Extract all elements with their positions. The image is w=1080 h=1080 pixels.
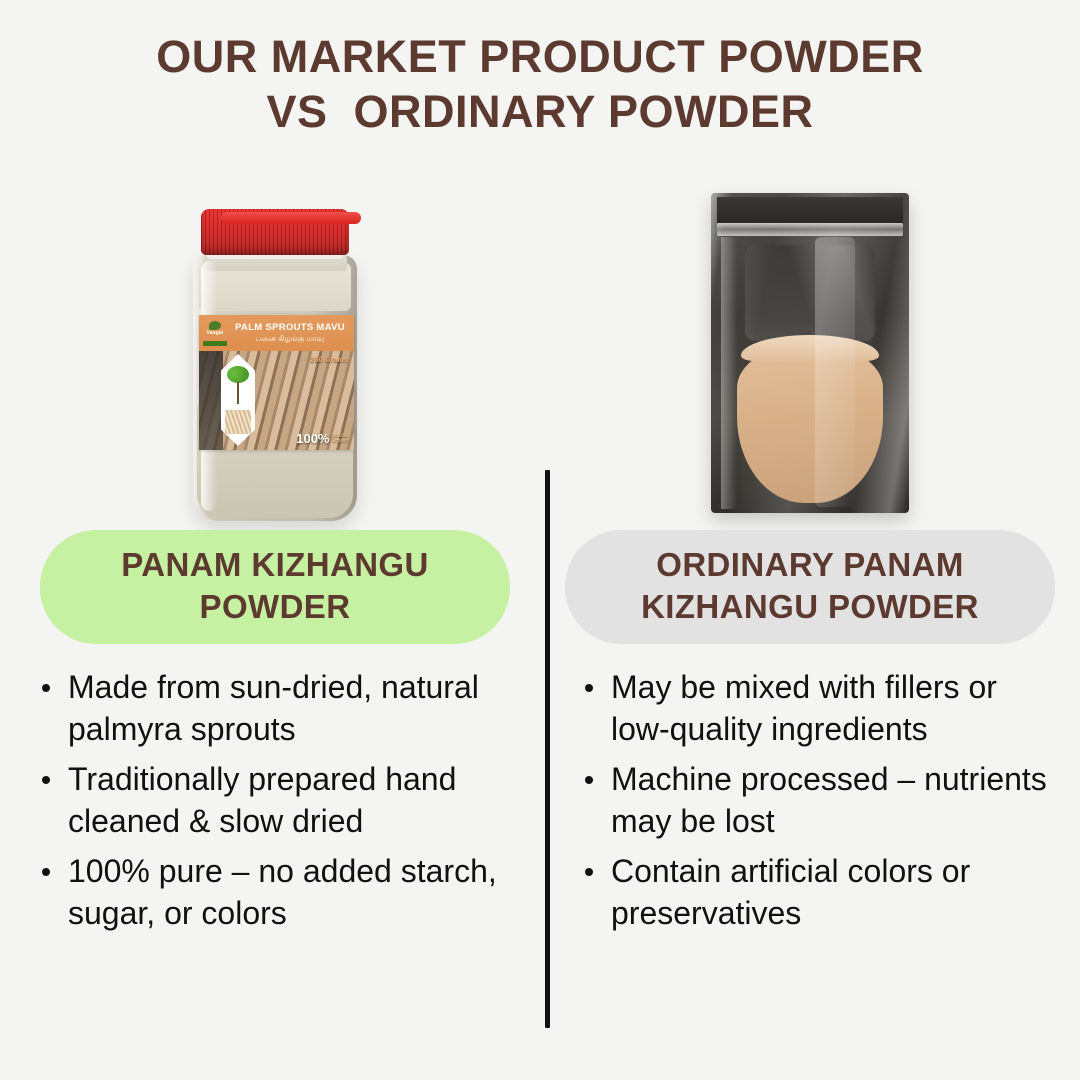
list-item: Contain artificial colors or preservativ…: [581, 851, 1063, 934]
jar-product-label: Vaagai PALM SPROUTS MAVU பனை கிழங்கு மாவ…: [199, 315, 354, 450]
product-image-pouch: ORDINARY PANAM KIZHANGU POWDER: [545, 175, 1075, 525]
jar-illustration: Vaagai PALM SPROUTS MAVU பனை கிழங்கு மாவ…: [185, 203, 365, 521]
list-item: Machine processed – nutrients may be los…: [581, 759, 1063, 842]
sprout-sticks-icon: [225, 410, 251, 434]
label-purity-value: 100%: [296, 432, 329, 445]
pouch-sheen-left: [721, 237, 737, 509]
pouch-powder-fill: [737, 343, 883, 503]
comparison-column-left: Vaagai PALM SPROUTS MAVU பனை கிழங்கு மாவ…: [10, 175, 540, 1055]
label-purity-sub-line-2: Organic: [331, 439, 349, 445]
badge-ordinary-panam-kizhangu-powder: ORDINARY PANAM KIZHANGU POWDER: [565, 530, 1055, 644]
list-item: Made from sun-dried, natural palmyra spr…: [38, 667, 528, 750]
list-item: 100% pure – no added starch, sugar, or c…: [38, 851, 528, 934]
jar-cap: [201, 209, 349, 255]
pouch-sheen-center: [815, 237, 855, 507]
comparison-column-right: ORDINARY PANAM KIZHANGU POWDER May be mi…: [545, 175, 1075, 1055]
label-purity-sub: Natural Organic: [331, 434, 349, 446]
pouch-illustration: [711, 193, 909, 513]
tree-trunk-icon: [237, 382, 239, 404]
label-header-band: Vaagai PALM SPROUTS MAVU பனை கிழங்கு மாவ…: [199, 315, 354, 351]
pouch-wrinkles: [745, 245, 875, 341]
logo-tag-bar: [203, 341, 227, 346]
label-photo-shadow: [199, 351, 223, 450]
label-product-name-en: PALM SPROUTS MAVU: [228, 323, 352, 333]
brand-name: Vaagai: [202, 330, 228, 336]
pouch-top-seal: [717, 197, 903, 223]
right-drawbacks-list: May be mixed with fillers or low-quality…: [545, 667, 1075, 944]
leaf-icon: [209, 321, 221, 330]
page-header: OUR MARKET PRODUCT POWDER VS ORDINARY PO…: [0, 0, 1080, 140]
tree-canopy-icon: [227, 366, 249, 383]
product-image-jar: Vaagai PALM SPROUTS MAVU பனை கிழங்கு மாவ…: [10, 175, 540, 525]
badge-panam-kizhangu-powder: PANAM KIZHANGU POWDER: [40, 530, 510, 644]
label-net-weight: 250 Grams: [310, 357, 348, 364]
pouch-ziplock-strip: [717, 223, 903, 236]
page-title-line-1: OUR MARKET PRODUCT POWDER: [0, 30, 1080, 85]
label-photo-area: 250 Grams 100% Natural Organic: [199, 351, 354, 450]
list-item: Traditionally prepared hand cleaned & sl…: [38, 759, 528, 842]
brand-logo-icon: Vaagai: [202, 319, 228, 347]
left-benefits-list: Made from sun-dried, natural palmyra spr…: [10, 667, 540, 944]
label-product-name-ta: பனை கிழங்கு மாவு: [228, 334, 352, 343]
page-title-line-2: VS ORDINARY POWDER: [0, 85, 1080, 140]
label-purity-badge: 100% Natural Organic: [296, 432, 349, 445]
label-title-group: PALM SPROUTS MAVU பனை கிழங்கு மாவு: [228, 323, 354, 343]
list-item: May be mixed with fillers or low-quality…: [581, 667, 1063, 750]
palmyra-tree-inset-icon: [221, 354, 255, 446]
jar-cap-top: [221, 212, 361, 224]
